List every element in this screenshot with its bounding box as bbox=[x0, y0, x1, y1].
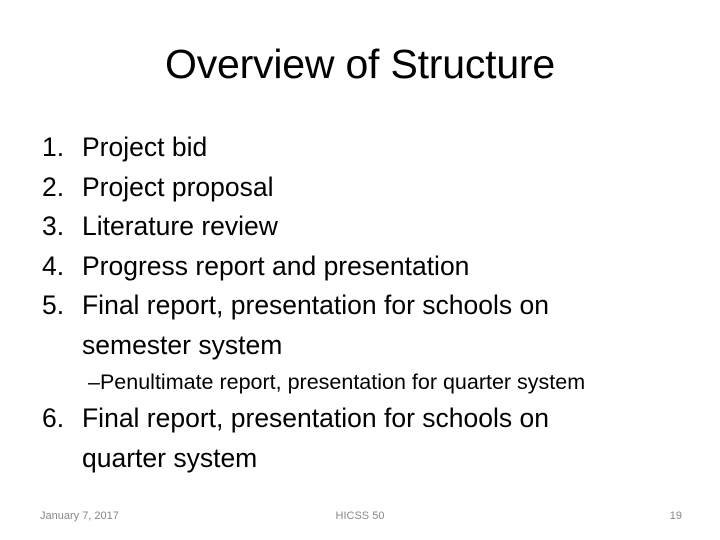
en-dash-icon: – bbox=[88, 365, 100, 399]
slide-footer: January 7, 2017 HICSS 50 19 bbox=[0, 506, 720, 526]
list-item-marker: 5. bbox=[36, 286, 82, 326]
slide-title: Overview of Structure bbox=[36, 40, 684, 88]
presentation-slide: Overview of Structure 1. Project bid 2. … bbox=[0, 0, 720, 540]
footer-conference-name: HICSS 50 bbox=[0, 506, 720, 526]
sub-list-item-text: Penultimate report, presentation for qua… bbox=[100, 365, 684, 399]
list-item-text: Literature review bbox=[82, 207, 582, 247]
slide-body-list: 1. Project bid 2. Project proposal 3. Li… bbox=[36, 128, 684, 478]
list-item: 4. Progress report and presentation bbox=[36, 247, 684, 287]
list-item: 3. Literature review bbox=[36, 207, 684, 247]
list-item-marker: 4. bbox=[36, 247, 82, 287]
list-item: 1. Project bid bbox=[36, 128, 684, 168]
list-item-text: Project bid bbox=[82, 128, 582, 168]
list-item-text: Progress report and presentation bbox=[82, 247, 582, 287]
list-item-marker: 3. bbox=[36, 207, 82, 247]
list-item-text: Final report, presentation for schools o… bbox=[82, 286, 582, 365]
list-item-text: Project proposal bbox=[82, 168, 582, 208]
list-item-text: Final report, presentation for schools o… bbox=[82, 399, 582, 478]
list-item-marker: 6. bbox=[36, 399, 82, 439]
list-item-marker: 2. bbox=[36, 168, 82, 208]
list-item: 6. Final report, presentation for school… bbox=[36, 399, 684, 478]
footer-page-number: 19 bbox=[670, 506, 682, 526]
list-item: 2. Project proposal bbox=[36, 168, 684, 208]
list-item-marker: 1. bbox=[36, 128, 82, 168]
sub-list-item: – Penultimate report, presentation for q… bbox=[36, 365, 684, 399]
list-item: 5. Final report, presentation for school… bbox=[36, 286, 684, 365]
